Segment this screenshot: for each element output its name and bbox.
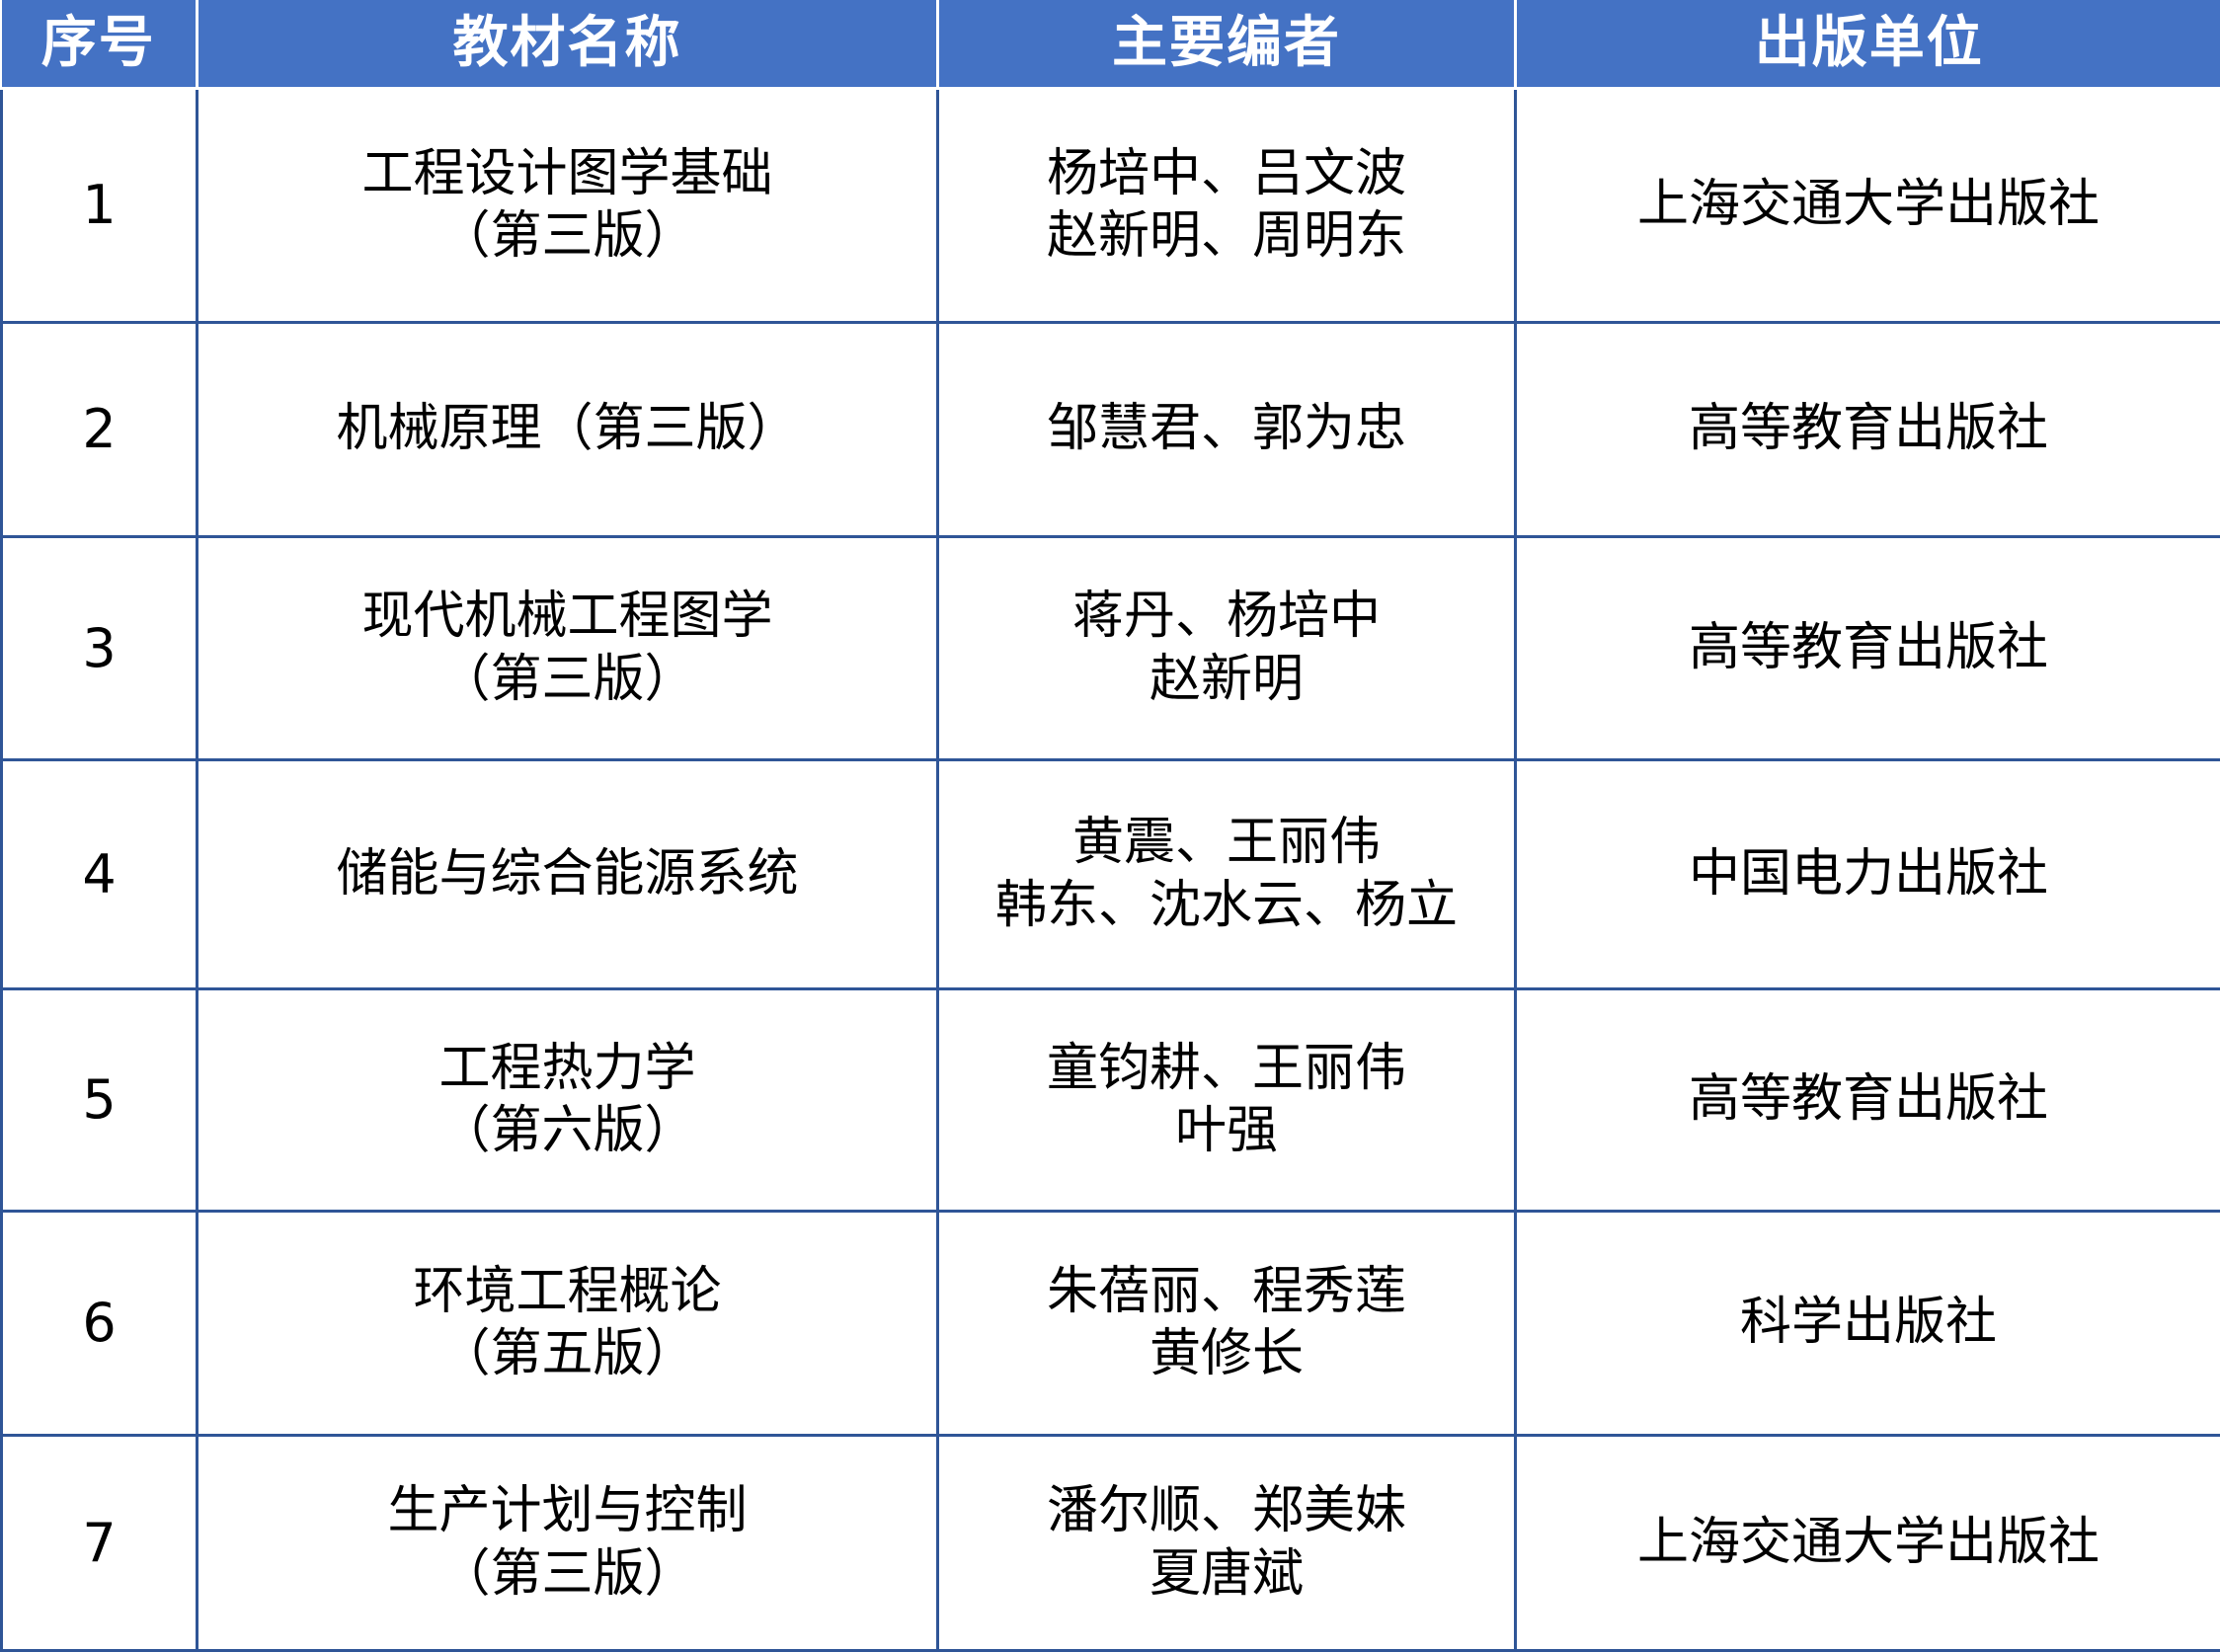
- title-line-2: （第五版）: [206, 1323, 928, 1385]
- cell-publisher: 中国电力出版社: [1516, 760, 2220, 989]
- authors-line-1: 黄震、王丽伟: [947, 812, 1506, 874]
- cell-authors: 潘尔顺、郑美妹 夏唐斌: [938, 1436, 1516, 1651]
- table-row: 4 储能与综合能源系统 黄震、王丽伟 韩东、沈水云、杨立 中国电力出版社: [2, 760, 2220, 989]
- column-header-title: 教材名称: [198, 0, 938, 89]
- authors-line-2: 韩东、沈水云、杨立: [947, 875, 1506, 937]
- authors-line-2: 夏唐斌: [947, 1543, 1506, 1606]
- cell-publisher: 上海交通大学出版社: [1516, 1436, 2220, 1651]
- authors-line-1: 邹慧君、郭为忠: [947, 398, 1506, 460]
- authors-line-1: 蒋丹、杨培中: [947, 586, 1506, 648]
- title-line-1: 储能与综合能源系统: [206, 843, 928, 905]
- authors-line-2: 叶强: [947, 1100, 1506, 1162]
- title-line-1: 环境工程概论: [206, 1261, 928, 1323]
- cell-title: 储能与综合能源系统: [198, 760, 938, 989]
- cell-publisher: 高等教育出版社: [1516, 989, 2220, 1212]
- cell-index: 4: [2, 760, 198, 989]
- column-header-authors: 主要编者: [938, 0, 1516, 89]
- title-line-2: （第三版）: [206, 1543, 928, 1606]
- cell-title: 现代机械工程图学 （第三版）: [198, 537, 938, 760]
- cell-index: 5: [2, 989, 198, 1212]
- cell-publisher: 科学出版社: [1516, 1212, 2220, 1436]
- table-header: 序号 教材名称 主要编者 出版单位: [2, 0, 2220, 89]
- cell-publisher: 上海交通大学出版社: [1516, 89, 2220, 323]
- cell-title: 生产计划与控制 （第三版）: [198, 1436, 938, 1651]
- cell-authors: 朱蓓丽、程秀莲 黄修长: [938, 1212, 1516, 1436]
- cell-authors: 童钧耕、王丽伟 叶强: [938, 989, 1516, 1212]
- authors-line-1: 朱蓓丽、程秀莲: [947, 1261, 1506, 1323]
- cell-authors: 邹慧君、郭为忠: [938, 323, 1516, 537]
- cell-index: 1: [2, 89, 198, 323]
- cell-publisher: 高等教育出版社: [1516, 537, 2220, 760]
- header-row: 序号 教材名称 主要编者 出版单位: [2, 0, 2220, 89]
- authors-line-1: 杨培中、吕文波: [947, 143, 1506, 205]
- authors-line-2: 赵新明: [947, 649, 1506, 711]
- cell-authors: 杨培中、吕文波 赵新明、周明东: [938, 89, 1516, 323]
- table-row: 2 机械原理（第三版） 邹慧君、郭为忠 高等教育出版社: [2, 323, 2220, 537]
- column-header-publisher: 出版单位: [1516, 0, 2220, 89]
- cell-index: 7: [2, 1436, 198, 1651]
- table-body: 1 工程设计图学基础 （第三版） 杨培中、吕文波 赵新明、周明东 上海交通大学出…: [2, 89, 2220, 1651]
- title-line-1: 机械原理（第三版）: [206, 398, 928, 460]
- table-row: 6 环境工程概论 （第五版） 朱蓓丽、程秀莲 黄修长 科学出版社: [2, 1212, 2220, 1436]
- cell-index: 3: [2, 537, 198, 760]
- textbook-table: 序号 教材名称 主要编者 出版单位 1 工程设计图学基础 （第三版） 杨培中、吕…: [0, 0, 2220, 1652]
- authors-line-2: 赵新明、周明东: [947, 205, 1506, 268]
- title-line-2: （第三版）: [206, 649, 928, 711]
- cell-title: 工程设计图学基础 （第三版）: [198, 89, 938, 323]
- title-line-2: （第三版）: [206, 205, 928, 268]
- authors-line-2: 黄修长: [947, 1323, 1506, 1385]
- cell-index: 6: [2, 1212, 198, 1436]
- cell-index: 2: [2, 323, 198, 537]
- title-line-1: 工程热力学: [206, 1038, 928, 1100]
- cell-authors: 黄震、王丽伟 韩东、沈水云、杨立: [938, 760, 1516, 989]
- cell-authors: 蒋丹、杨培中 赵新明: [938, 537, 1516, 760]
- title-line-1: 工程设计图学基础: [206, 143, 928, 205]
- column-header-index: 序号: [2, 0, 198, 89]
- authors-line-1: 潘尔顺、郑美妹: [947, 1480, 1506, 1542]
- table-row: 1 工程设计图学基础 （第三版） 杨培中、吕文波 赵新明、周明东 上海交通大学出…: [2, 89, 2220, 323]
- table-row: 7 生产计划与控制 （第三版） 潘尔顺、郑美妹 夏唐斌 上海交通大学出版社: [2, 1436, 2220, 1651]
- title-line-1: 现代机械工程图学: [206, 586, 928, 648]
- cell-title: 工程热力学 （第六版）: [198, 989, 938, 1212]
- cell-title: 环境工程概论 （第五版）: [198, 1212, 938, 1436]
- authors-line-1: 童钧耕、王丽伟: [947, 1038, 1506, 1100]
- cell-title: 机械原理（第三版）: [198, 323, 938, 537]
- cell-publisher: 高等教育出版社: [1516, 323, 2220, 537]
- table-row: 3 现代机械工程图学 （第三版） 蒋丹、杨培中 赵新明 高等教育出版社: [2, 537, 2220, 760]
- title-line-1: 生产计划与控制: [206, 1480, 928, 1542]
- title-line-2: （第六版）: [206, 1100, 928, 1162]
- table-row: 5 工程热力学 （第六版） 童钧耕、王丽伟 叶强 高等教育出版社: [2, 989, 2220, 1212]
